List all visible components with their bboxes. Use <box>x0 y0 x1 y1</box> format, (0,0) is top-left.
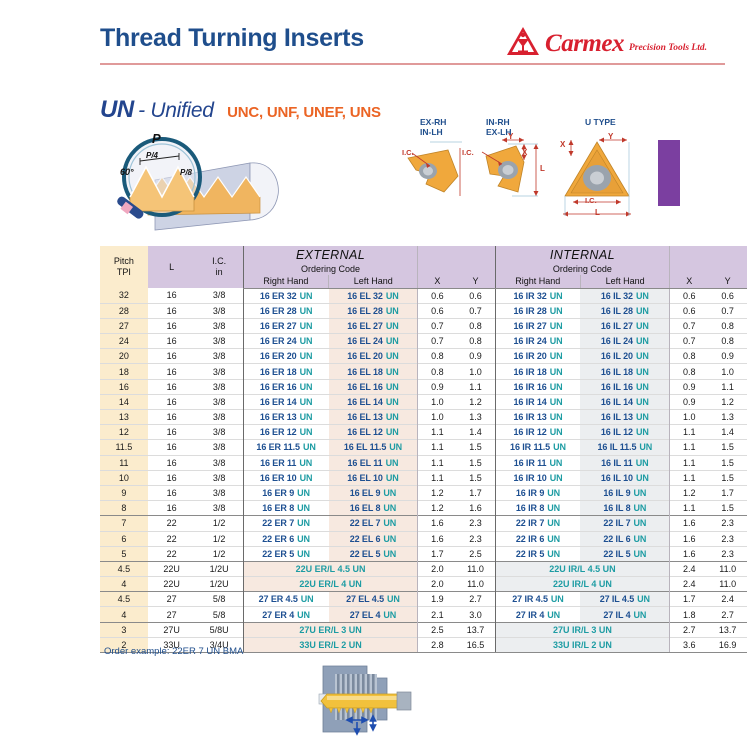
cell-internal-right-hand-code[interactable]: 16 IR 16UN <box>495 379 580 394</box>
cell-external-x: 0.7 <box>418 334 457 349</box>
table-row: 13163/816 ER 13UN16 EL 13UN1.01.316 IR 1… <box>100 410 747 425</box>
cell-external-x: 1.0 <box>418 410 457 425</box>
table-row: 7221/222 ER 7UN22 EL 7UN1.62.322 IR 7UN2… <box>100 516 747 531</box>
eighth-pitch-label: P/8 <box>180 168 192 177</box>
cell-external-x: 0.6 <box>418 303 457 318</box>
cell-l: 16 <box>148 303 196 318</box>
cell-internal-right-hand-code[interactable]: 16 IR 8UN <box>495 501 580 516</box>
cell-ic: 3/8 <box>195 288 243 303</box>
cell-internal-x: 1.1 <box>670 455 709 470</box>
cell-external-ordering-code[interactable]: 22U ER/L 4 UN <box>243 577 418 592</box>
cell-external-left-hand-code[interactable]: 22 EL 7UN <box>329 516 418 531</box>
order-example-note: Order example: 22ER 7 UN BMA <box>104 646 243 657</box>
insert-view-1-title: EX-RH IN-LH <box>420 118 446 137</box>
thread-code: UN <box>100 96 134 123</box>
cell-external-y: 1.6 <box>456 501 495 516</box>
cell-external-right-hand-code[interactable]: 16 ER 11.5UN <box>243 440 328 455</box>
cell-internal-right-hand-code[interactable]: 16 IR 14UN <box>495 394 580 409</box>
cell-external-x: 1.1 <box>418 470 457 485</box>
cell-internal-left-hand-code[interactable]: 16 IL 24UN <box>580 334 669 349</box>
table-row: 20163/816 ER 20UN16 EL 20UN0.80.916 IR 2… <box>100 349 747 364</box>
cell-internal-x: 1.1 <box>670 425 709 440</box>
header-external-ordering-code: Ordering Code <box>243 263 418 275</box>
cell-external-ordering-code[interactable]: 27U ER/L 3 UN <box>243 622 418 637</box>
cell-internal-y: 1.4 <box>708 425 747 440</box>
cell-l: 22 <box>148 516 196 531</box>
cell-internal-left-hand-code[interactable]: 27 IL 4UN <box>580 607 669 622</box>
cell-internal-right-hand-code[interactable]: 16 IR 13UN <box>495 410 580 425</box>
table-row: 6221/222 ER 6UN22 EL 6UN1.62.322 IR 6UN2… <box>100 531 747 546</box>
cell-internal-x: 2.4 <box>670 577 709 592</box>
cell-external-x: 1.1 <box>418 455 457 470</box>
brand-logo: Carmex Precision Tools Ltd. <box>506 26 707 56</box>
cell-l: 16 <box>148 470 196 485</box>
cell-external-x: 1.2 <box>418 485 457 500</box>
cell-internal-right-hand-code[interactable]: 16 IR 24UN <box>495 334 580 349</box>
cell-internal-y: 2.3 <box>708 531 747 546</box>
cell-internal-right-hand-code[interactable]: 16 IR 28UN <box>495 303 580 318</box>
cell-internal-y: 1.5 <box>708 440 747 455</box>
cell-ic: 1/2U <box>195 577 243 592</box>
cell-external-right-hand-code[interactable]: 16 ER 24UN <box>243 334 328 349</box>
table-row: 32163/816 ER 32UN16 EL 32UN0.60.616 IR 3… <box>100 288 747 303</box>
cell-internal-x: 1.6 <box>670 531 709 546</box>
cell-external-right-hand-code[interactable]: 16 ER 8UN <box>243 501 328 516</box>
header-internal-x: X <box>670 275 709 288</box>
cell-internal-y: 1.0 <box>708 364 747 379</box>
cell-external-ordering-code[interactable]: 22U ER/L 4.5 UN <box>243 561 418 576</box>
cell-internal-left-hand-code[interactable]: 16 IL 20UN <box>580 349 669 364</box>
cell-l: 16 <box>148 501 196 516</box>
cell-pitch: 13 <box>100 410 148 425</box>
cell-l: 16 <box>148 334 196 349</box>
cell-internal-x: 0.9 <box>670 394 709 409</box>
cell-ic: 1/2U <box>195 561 243 576</box>
brand-name: Carmex <box>545 31 624 56</box>
thread-insert-spec-table: Pitch TPI L I.C. in EXTERNAL INTERNAL <box>100 246 747 653</box>
cell-external-y: 1.5 <box>456 470 495 485</box>
cell-external-left-hand-code[interactable]: 16 EL 12UN <box>329 425 418 440</box>
cell-internal-right-hand-code[interactable]: 27 IR 4UN <box>495 607 580 622</box>
table-row: 4275/827 ER 4UN27 EL 4UN2.13.027 IR 4UN2… <box>100 607 747 622</box>
cell-internal-right-hand-code[interactable]: 16 IR 11UN <box>495 455 580 470</box>
cell-external-right-hand-code[interactable]: 27 ER 4UN <box>243 607 328 622</box>
thread-standards-list: UNC, UNF, UNEF, UNS <box>227 104 381 121</box>
cell-internal-left-hand-code[interactable]: 16 IL 14UN <box>580 394 669 409</box>
catalog-page: Thread Turning Inserts Carmex Precision … <box>0 0 747 747</box>
cell-external-right-hand-code[interactable]: 27 ER 4.5UN <box>243 592 328 607</box>
cell-internal-y: 16.9 <box>708 637 747 652</box>
cell-internal-left-hand-code[interactable]: 16 IL 16UN <box>580 379 669 394</box>
thread-name: - Unified <box>138 99 214 122</box>
cell-l: 16 <box>148 379 196 394</box>
header-external-x: X <box>418 275 457 288</box>
cell-external-left-hand-code[interactable]: 22 EL 6UN <box>329 531 418 546</box>
cell-ic: 3/8 <box>195 410 243 425</box>
cell-internal-left-hand-code[interactable]: 16 IL 12UN <box>580 425 669 440</box>
cell-internal-y: 1.5 <box>708 470 747 485</box>
cell-l: 16 <box>148 349 196 364</box>
cell-ic: 3/8 <box>195 470 243 485</box>
table-row: 9163/816 ER 9UN16 EL 9UN1.21.716 IR 9UN1… <box>100 485 747 500</box>
cell-internal-y: 2.4 <box>708 592 747 607</box>
cell-external-left-hand-code[interactable]: 16 EL 13UN <box>329 410 418 425</box>
cell-internal-left-hand-code[interactable]: 22 IL 6UN <box>580 531 669 546</box>
cell-external-right-hand-code[interactable]: 16 ER 32UN <box>243 288 328 303</box>
cell-external-left-hand-code[interactable]: 16 EL 10UN <box>329 470 418 485</box>
view2-y-label: Y <box>508 132 513 141</box>
cell-pitch: 11.5 <box>100 440 148 455</box>
table-row: 24163/816 ER 24UN16 EL 24UN0.70.816 IR 2… <box>100 334 747 349</box>
cell-l: 16 <box>148 394 196 409</box>
cell-pitch: 7 <box>100 516 148 531</box>
cell-internal-left-hand-code[interactable]: 16 IL 8UN <box>580 501 669 516</box>
cell-internal-right-hand-code[interactable]: 16 IR 10UN <box>495 470 580 485</box>
cell-external-y: 1.4 <box>456 425 495 440</box>
header-internal: INTERNAL <box>495 246 670 263</box>
cell-internal-y: 1.2 <box>708 394 747 409</box>
cell-external-x: 1.2 <box>418 501 457 516</box>
cell-internal-right-hand-code[interactable]: 22 IR 7UN <box>495 516 580 531</box>
cell-pitch: 12 <box>100 425 148 440</box>
header-pitch: Pitch TPI <box>100 246 148 288</box>
cell-pitch: 18 <box>100 364 148 379</box>
cell-pitch: 32 <box>100 288 148 303</box>
cell-external-left-hand-code[interactable]: 16 EL 8UN <box>329 501 418 516</box>
cell-internal-y: 13.7 <box>708 622 747 637</box>
cell-pitch: 4 <box>100 577 148 592</box>
cell-external-left-hand-code[interactable]: 16 EL 32UN <box>329 288 418 303</box>
thread-angle-label: 60° <box>120 167 134 177</box>
brand-tagline: Precision Tools Ltd. <box>629 43 707 56</box>
cell-ic: 3/8 <box>195 303 243 318</box>
cell-external-left-hand-code[interactable]: 16 EL 18UN <box>329 364 418 379</box>
cell-external-x: 0.7 <box>418 318 457 333</box>
header-divider <box>100 63 725 65</box>
cell-l: 16 <box>148 425 196 440</box>
cell-internal-x: 2.7 <box>670 622 709 637</box>
cell-external-right-hand-code[interactable]: 22 ER 6UN <box>243 531 328 546</box>
cell-external-x: 1.7 <box>418 546 457 561</box>
cell-internal-right-hand-code[interactable]: 16 IR 27UN <box>495 318 580 333</box>
cell-external-right-hand-code[interactable]: 16 ER 13UN <box>243 410 328 425</box>
cell-external-right-hand-code[interactable]: 22 ER 7UN <box>243 516 328 531</box>
cell-internal-x: 1.1 <box>670 470 709 485</box>
cell-internal-y: 1.5 <box>708 455 747 470</box>
cell-pitch: 24 <box>100 334 148 349</box>
cell-internal-right-hand-code[interactable]: 22 IR 5UN <box>495 546 580 561</box>
cell-pitch: 8 <box>100 501 148 516</box>
cell-external-y: 2.3 <box>456 516 495 531</box>
cell-external-right-hand-code[interactable]: 16 ER 18UN <box>243 364 328 379</box>
cell-internal-x: 1.6 <box>670 516 709 531</box>
cell-pitch: 4.5 <box>100 561 148 576</box>
cell-l: 22 <box>148 546 196 561</box>
cell-external-right-hand-code[interactable]: 16 ER 20UN <box>243 349 328 364</box>
cell-internal-right-hand-code[interactable]: 16 IR 32UN <box>495 288 580 303</box>
cell-external-y: 2.3 <box>456 531 495 546</box>
table-row: 422U1/2U22U ER/L 4 UN2.011.022U IR/L 4 U… <box>100 577 747 592</box>
cell-l: 16 <box>148 455 196 470</box>
cell-internal-y: 0.6 <box>708 288 747 303</box>
cell-external-x: 0.8 <box>418 349 457 364</box>
cell-internal-left-hand-code[interactable]: 22 IL 7UN <box>580 516 669 531</box>
cell-external-x: 2.0 <box>418 577 457 592</box>
cell-internal-ordering-code[interactable]: 27U IR/L 3 UN <box>495 622 670 637</box>
cell-external-x: 1.9 <box>418 592 457 607</box>
table-row: 12163/816 ER 12UN16 EL 12UN1.11.416 IR 1… <box>100 425 747 440</box>
cell-internal-x: 1.6 <box>670 546 709 561</box>
cell-external-y: 1.0 <box>456 364 495 379</box>
cell-external-y: 1.5 <box>456 455 495 470</box>
header-internal-right-hand: Right Hand <box>495 275 580 288</box>
cell-l: 27 <box>148 592 196 607</box>
cell-internal-right-hand-code[interactable]: 16 IR 9UN <box>495 485 580 500</box>
header-external-x-spacer <box>418 246 457 275</box>
insert-view-3-ic-label: I.C. <box>585 196 597 205</box>
cell-internal-y: 1.7 <box>708 485 747 500</box>
view3-x-label: X <box>560 140 565 149</box>
cell-internal-left-hand-code[interactable]: 22 IL 5UN <box>580 546 669 561</box>
cell-pitch: 16 <box>100 379 148 394</box>
cell-external-left-hand-code[interactable]: 16 EL 16UN <box>329 379 418 394</box>
header-external-right-hand: Right Hand <box>243 275 328 288</box>
table-row: 11.5163/816 ER 11.5UN16 EL 11.5UN1.11.51… <box>100 440 747 455</box>
quarter-pitch-label: P/4 <box>146 151 158 160</box>
cell-ic: 3/8 <box>195 379 243 394</box>
cell-internal-x: 0.8 <box>670 364 709 379</box>
table-row: 10163/816 ER 10UN16 EL 10UN1.11.516 IR 1… <box>100 470 747 485</box>
header-external-left-hand: Left Hand <box>329 275 418 288</box>
cell-internal-x: 1.2 <box>670 485 709 500</box>
header-internal-y: Y <box>708 275 747 288</box>
cell-external-y: 1.1 <box>456 379 495 394</box>
cell-external-left-hand-code[interactable]: 16 EL 14UN <box>329 394 418 409</box>
cell-external-y: 0.8 <box>456 318 495 333</box>
cell-external-x: 1.0 <box>418 394 457 409</box>
cell-pitch: 4 <box>100 607 148 622</box>
cell-l: 16 <box>148 440 196 455</box>
cell-external-right-hand-code[interactable]: 16 ER 10UN <box>243 470 328 485</box>
cell-external-x: 2.5 <box>418 622 457 637</box>
cell-external-right-hand-code[interactable]: 16 ER 14UN <box>243 394 328 409</box>
cell-internal-right-hand-code[interactable]: 27 IR 4.5UN <box>495 592 580 607</box>
cell-external-x: 1.6 <box>418 516 457 531</box>
cell-l: 16 <box>148 288 196 303</box>
cell-pitch: 4.5 <box>100 592 148 607</box>
cell-internal-y: 1.5 <box>708 501 747 516</box>
cell-ic: 5/8U <box>195 622 243 637</box>
cell-pitch: 20 <box>100 349 148 364</box>
cell-internal-right-hand-code[interactable]: 16 IR 12UN <box>495 425 580 440</box>
cell-ic: 3/8 <box>195 425 243 440</box>
header-external-y-spacer <box>456 246 495 275</box>
table-row: 28163/816 ER 28UN16 EL 28UN0.60.716 IR 2… <box>100 303 747 318</box>
cell-internal-x: 1.7 <box>670 592 709 607</box>
cell-external-left-hand-code[interactable]: 16 EL 20UN <box>329 349 418 364</box>
cell-external-left-hand-code[interactable]: 16 EL 27UN <box>329 318 418 333</box>
cell-ic: 3/8 <box>195 485 243 500</box>
table-row: 11163/816 ER 11UN16 EL 11UN1.11.516 IR 1… <box>100 455 747 470</box>
cell-external-right-hand-code[interactable]: 16 ER 16UN <box>243 379 328 394</box>
cell-external-y: 0.6 <box>456 288 495 303</box>
pitch-dimension-label: P <box>152 131 161 146</box>
cell-internal-y: 1.1 <box>708 379 747 394</box>
page-title: Thread Turning Inserts <box>100 24 364 53</box>
cell-internal-right-hand-code[interactable]: 22 IR 6UN <box>495 531 580 546</box>
cell-external-x: 0.6 <box>418 288 457 303</box>
cell-internal-x: 1.1 <box>670 440 709 455</box>
cell-external-left-hand-code[interactable]: 16 EL 28UN <box>329 303 418 318</box>
cell-external-left-hand-code[interactable]: 16 EL 11.5UN <box>329 440 418 455</box>
cell-l: 22 <box>148 531 196 546</box>
cell-external-y: 1.7 <box>456 485 495 500</box>
cell-external-left-hand-code[interactable]: 16 EL 9UN <box>329 485 418 500</box>
cell-external-x: 0.8 <box>418 364 457 379</box>
section-color-tab <box>658 140 680 206</box>
cell-external-left-hand-code[interactable]: 16 EL 24UN <box>329 334 418 349</box>
header-l: L <box>148 246 196 288</box>
view3-y-label: Y <box>608 132 613 141</box>
table-row: 4.5275/827 ER 4.5UN27 EL 4.5UN1.92.727 I… <box>100 592 747 607</box>
cell-internal-y: 2.3 <box>708 546 747 561</box>
cell-internal-left-hand-code[interactable]: 16 IL 28UN <box>580 303 669 318</box>
cell-ic: 5/8 <box>195 592 243 607</box>
cell-internal-y: 0.7 <box>708 303 747 318</box>
page-header: Thread Turning Inserts Carmex Precision … <box>100 22 725 68</box>
table-row: 327U5/8U27U ER/L 3 UN2.513.727U IR/L 3 U… <box>100 622 747 637</box>
view2-l-label: L <box>540 164 545 173</box>
cell-external-y: 1.5 <box>456 440 495 455</box>
cell-ic: 3/8 <box>195 318 243 333</box>
cell-internal-x: 2.4 <box>670 561 709 576</box>
cell-internal-x: 0.7 <box>670 334 709 349</box>
threading-tool-illustration <box>305 660 435 745</box>
cell-external-x: 0.9 <box>418 379 457 394</box>
thread-profile-illustration: P P/4 P/8 60° <box>100 125 400 235</box>
table-row: 8163/816 ER 8UN16 EL 8UN1.21.616 IR 8UN1… <box>100 501 747 516</box>
cell-external-right-hand-code[interactable]: 16 ER 27UN <box>243 318 328 333</box>
cell-internal-y: 1.3 <box>708 410 747 425</box>
cell-l: 22U <box>148 561 196 576</box>
cell-internal-y: 2.7 <box>708 607 747 622</box>
cell-internal-y: 0.8 <box>708 334 747 349</box>
cell-ic: 3/8 <box>195 349 243 364</box>
cell-external-ordering-code[interactable]: 33U ER/L 2 UN <box>243 637 418 652</box>
table-row: 14163/816 ER 14UN16 EL 14UN1.01.216 IR 1… <box>100 394 747 409</box>
cell-internal-x: 0.6 <box>670 303 709 318</box>
cell-internal-left-hand-code[interactable]: 16 IL 10UN <box>580 470 669 485</box>
header-internal-x-spacer <box>670 246 709 275</box>
table-row: 4.522U1/2U22U ER/L 4.5 UN2.011.022U IR/L… <box>100 561 747 576</box>
cell-ic: 1/2 <box>195 531 243 546</box>
cell-internal-left-hand-code[interactable]: 16 IL 18UN <box>580 364 669 379</box>
cell-ic: 3/8 <box>195 364 243 379</box>
cell-internal-ordering-code[interactable]: 22U IR/L 4 UN <box>495 577 670 592</box>
insert-view-2-ic-label: I.C. <box>462 148 474 157</box>
cell-internal-x: 0.9 <box>670 379 709 394</box>
header-internal-y-spacer <box>708 246 747 275</box>
cell-external-y: 11.0 <box>456 577 495 592</box>
cell-ic: 3/8 <box>195 394 243 409</box>
cell-external-right-hand-code[interactable]: 22 ER 5UN <box>243 546 328 561</box>
cell-internal-left-hand-code[interactable]: 16 IL 9UN <box>580 485 669 500</box>
cell-pitch: 6 <box>100 531 148 546</box>
cell-internal-y: 0.9 <box>708 349 747 364</box>
cell-internal-right-hand-code[interactable]: 16 IR 18UN <box>495 364 580 379</box>
cell-internal-y: 11.0 <box>708 561 747 576</box>
cell-external-left-hand-code[interactable]: 16 EL 11UN <box>329 455 418 470</box>
cell-internal-x: 1.1 <box>670 501 709 516</box>
cell-internal-y: 11.0 <box>708 577 747 592</box>
cell-internal-left-hand-code[interactable]: 16 IL 27UN <box>580 318 669 333</box>
insert-view-3-title: U TYPE <box>585 118 616 128</box>
cell-internal-ordering-code[interactable]: 22U IR/L 4.5 UN <box>495 561 670 576</box>
cell-pitch: 5 <box>100 546 148 561</box>
insert-view-1-ic-label: I.C. <box>402 148 414 157</box>
header-internal-ordering-code: Ordering Code <box>495 263 670 275</box>
cell-internal-x: 0.6 <box>670 288 709 303</box>
cell-pitch: 3 <box>100 622 148 637</box>
cell-internal-x: 0.8 <box>670 349 709 364</box>
cell-pitch: 28 <box>100 303 148 318</box>
cell-internal-left-hand-code[interactable]: 16 IL 32UN <box>580 288 669 303</box>
cell-l: 16 <box>148 410 196 425</box>
insert-type-diagrams: EX-RH IN-LH IN-RH EX-LH U TYPE I.C. I.C.… <box>400 118 680 233</box>
cell-external-right-hand-code[interactable]: 16 ER 12UN <box>243 425 328 440</box>
table-header-row-group: Pitch TPI L I.C. in EXTERNAL INTERNAL <box>100 246 747 263</box>
cell-external-left-hand-code[interactable]: 27 EL 4.5UN <box>329 592 418 607</box>
cell-l: 27U <box>148 622 196 637</box>
cell-external-y: 3.0 <box>456 607 495 622</box>
cell-internal-left-hand-code[interactable]: 16 IL 13UN <box>580 410 669 425</box>
header-external: EXTERNAL <box>243 246 418 263</box>
cell-external-right-hand-code[interactable]: 16 ER 9UN <box>243 485 328 500</box>
view2-x-label: X <box>522 148 527 157</box>
cell-pitch: 10 <box>100 470 148 485</box>
cell-pitch: 11 <box>100 455 148 470</box>
cell-internal-left-hand-code[interactable]: 16 IL 11.5UN <box>580 440 669 455</box>
cell-ic: 3/8 <box>195 455 243 470</box>
cell-internal-x: 1.8 <box>670 607 709 622</box>
cell-internal-ordering-code[interactable]: 33U IR/L 2 UN <box>495 637 670 652</box>
cell-external-y: 1.2 <box>456 394 495 409</box>
cell-internal-right-hand-code[interactable]: 16 IR 20UN <box>495 349 580 364</box>
cell-external-y: 0.7 <box>456 303 495 318</box>
cell-external-y: 2.7 <box>456 592 495 607</box>
cell-external-x: 2.8 <box>418 637 457 652</box>
cell-ic: 3/8 <box>195 501 243 516</box>
cell-internal-left-hand-code[interactable]: 27 IL 4.5UN <box>580 592 669 607</box>
table-row: 27163/816 ER 27UN16 EL 27UN0.70.816 IR 2… <box>100 318 747 333</box>
table-header: Pitch TPI L I.C. in EXTERNAL INTERNAL <box>100 246 747 288</box>
cell-internal-left-hand-code[interactable]: 16 IL 11UN <box>580 455 669 470</box>
cell-ic: 1/2 <box>195 516 243 531</box>
cell-external-x: 2.1 <box>418 607 457 622</box>
cell-internal-right-hand-code[interactable]: 16 IR 11.5UN <box>495 440 580 455</box>
cell-external-left-hand-code[interactable]: 27 EL 4UN <box>329 607 418 622</box>
header-ic: I.C. in <box>195 246 243 288</box>
cell-internal-x: 1.0 <box>670 410 709 425</box>
cell-external-right-hand-code[interactable]: 16 ER 28UN <box>243 303 328 318</box>
cell-external-y: 0.8 <box>456 334 495 349</box>
cell-ic: 3/8 <box>195 440 243 455</box>
cell-external-left-hand-code[interactable]: 22 EL 5UN <box>329 546 418 561</box>
cell-external-y: 13.7 <box>456 622 495 637</box>
cell-external-right-hand-code[interactable]: 16 ER 11UN <box>243 455 328 470</box>
header-internal-left-hand: Left Hand <box>580 275 669 288</box>
cell-l: 27 <box>148 607 196 622</box>
